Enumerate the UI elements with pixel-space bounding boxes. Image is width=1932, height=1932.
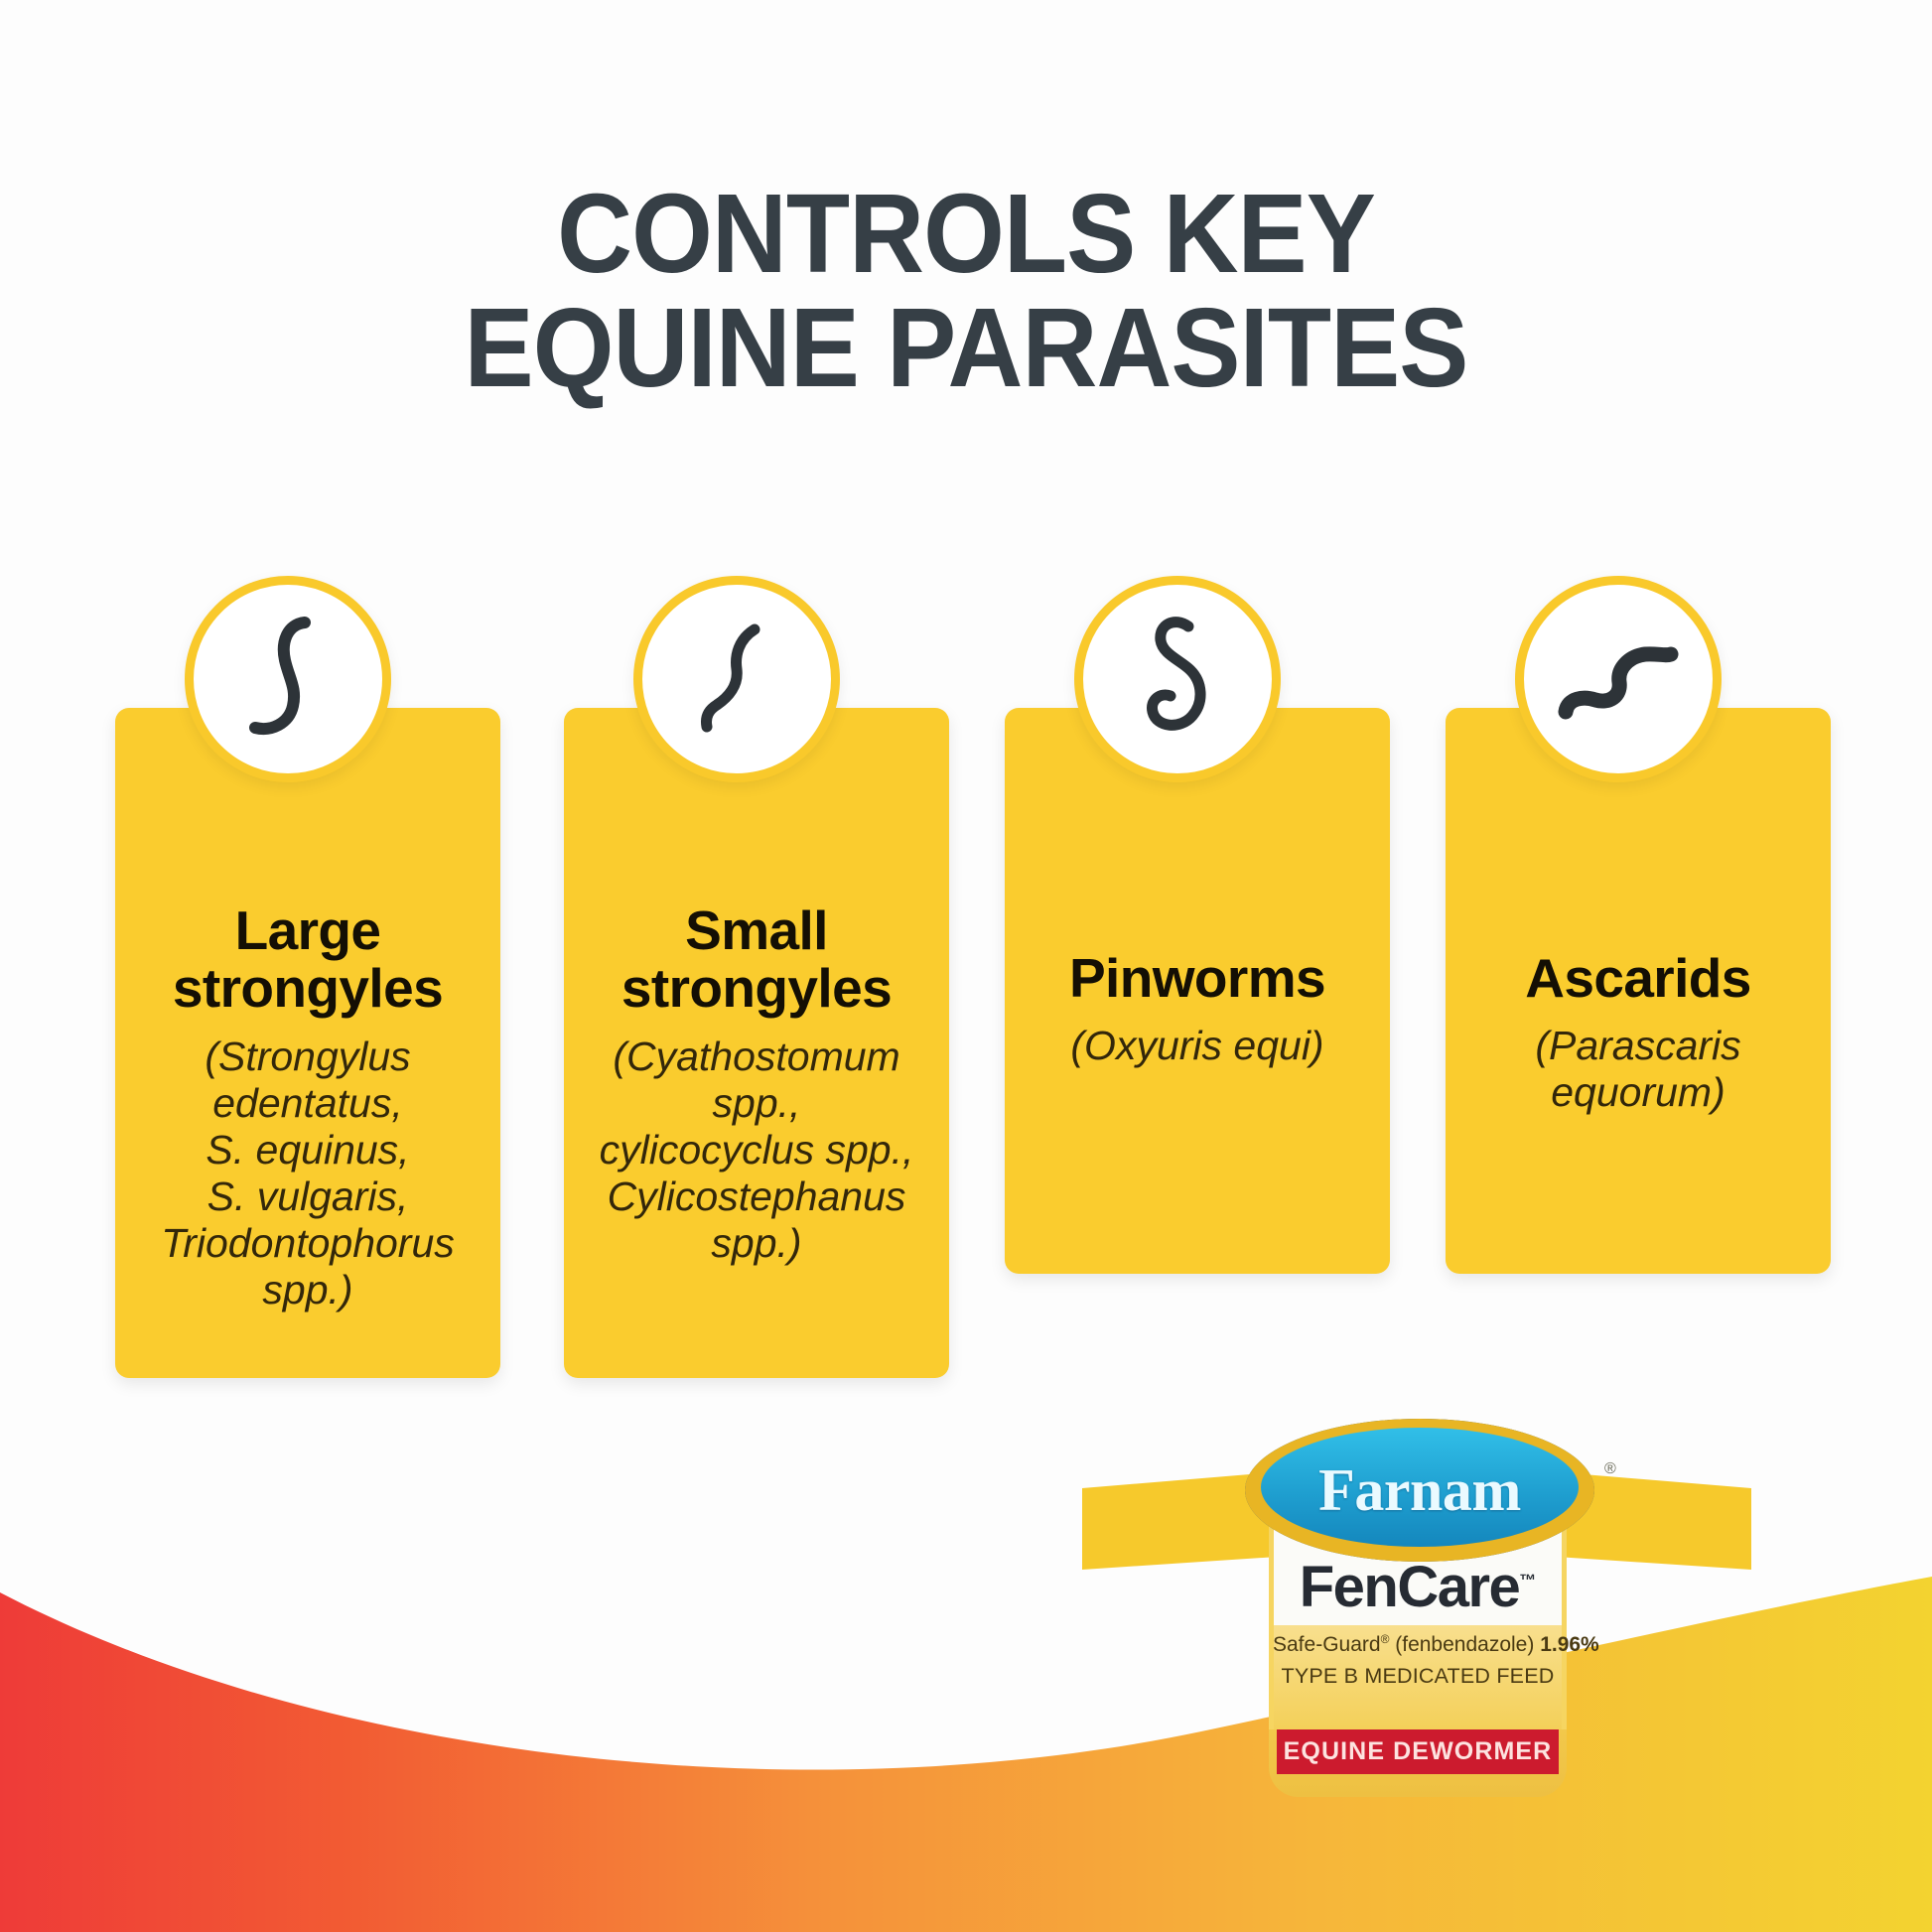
farnam-brand-oval [1241,1415,1598,1566]
registered-trademark-icon: ® [1604,1460,1616,1478]
parasite-card-title: Large strongyles [129,901,486,1018]
parasite-icon-bubble-small-strongyles [633,576,840,782]
parasite-icon-bubble-pinworms [1074,576,1281,782]
active-ingredient-detail: (fenbendazole) [1389,1633,1540,1656]
large-strongyle-worm-icon [223,605,352,754]
parasite-card-scientific-name: (Parascaris equorum) [1459,1023,1817,1116]
product-category-label: EQUINE DEWORMER [1277,1737,1559,1766]
parasite-card-title: Ascarids [1459,949,1817,1007]
active-ingredient-line: Safe-Guard® (fenbendazole) 1.96% [1273,1632,1563,1657]
parasite-card-pinworms[interactable]: Pinworms (Oxyuris equi) [1005,708,1390,1274]
parasite-icon-bubble-ascarids [1515,576,1722,782]
parasite-card-scientific-name: (Oxyuris equi) [1019,1023,1376,1069]
parasite-card-small-strongyles[interactable]: Small strongyles (Cyathostomum spp., cyl… [564,708,949,1378]
active-ingredient-strength: 1.96% [1540,1633,1599,1656]
pinworm-worm-icon [1123,605,1232,754]
parasite-card-title: Small strongyles [578,901,935,1018]
product-logo[interactable]: FenCare™ Safe-Guard® (fenbendazole) 1.96… [1074,1415,1759,1812]
parasite-card-scientific-name: (Cyathostomum spp., cylicocyclus spp., C… [578,1034,935,1268]
small-strongyle-worm-icon [677,610,796,749]
parasite-card-title: Pinworms [1019,949,1376,1007]
parasite-card-large-strongyles[interactable]: Large strongyles (Strongylus edentatus, … [115,708,500,1378]
parasite-card-scientific-name: (Strongylus edentatus, S. equinus, S. vu… [129,1034,486,1314]
feed-type-line: TYPE B MEDICATED FEED [1273,1664,1563,1689]
active-ingredient-name: Safe-Guard [1273,1633,1381,1656]
parasite-card-ascarids[interactable]: Ascarids (Parascaris equorum) [1446,708,1831,1274]
infographic-canvas: CONTROLS KEY EQUINE PARASITES Large stro… [0,0,1932,1932]
ascarid-worm-icon [1544,624,1693,734]
trademark-symbol: ™ [1519,1572,1536,1590]
parasite-icon-bubble-large-strongyles [185,576,391,782]
